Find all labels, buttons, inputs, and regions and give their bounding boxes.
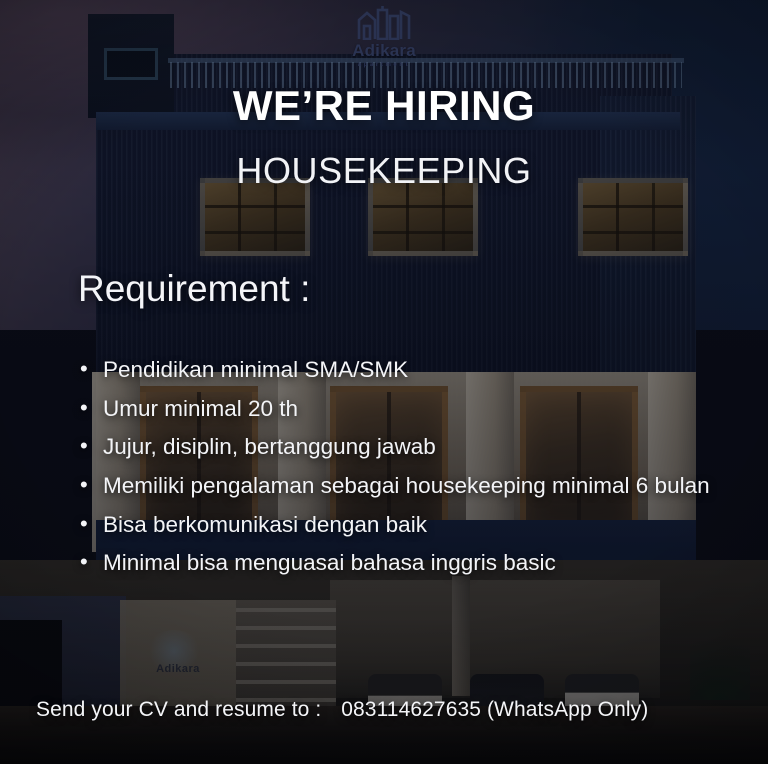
brand-logo: Adikara apartment	[0, 6, 768, 68]
requirement-item: Pendidikan minimal SMA/SMK	[78, 355, 728, 385]
contact-footer: Send your CV and resume to : 08311462763…	[36, 698, 648, 722]
brand-name: Adikara	[352, 41, 416, 61]
requirements-list: Pendidikan minimal SMA/SMK Umur minimal …	[78, 355, 728, 587]
contact-phone: 083114627635 (WhatsApp Only)	[341, 698, 648, 721]
poster-content: Adikara apartment WE’RE HIRING HOUSEKEEP…	[0, 0, 768, 764]
requirement-item: Jujur, disiplin, bertanggung jawab	[78, 432, 728, 462]
requirement-item: Umur minimal 20 th	[78, 394, 728, 424]
requirement-item: Minimal bisa menguasai bahasa inggris ba…	[78, 548, 728, 578]
headline: WE’RE HIRING	[0, 82, 768, 130]
requirement-item: Bisa berkomunikasi dengan baik	[78, 510, 728, 540]
job-role: HOUSEKEEPING	[0, 150, 768, 192]
requirement-item: Memiliki pengalaman sebagai housekeeping…	[78, 471, 728, 501]
contact-label: Send your CV and resume to :	[36, 698, 321, 721]
job-poster: Adikara Adikara apartment	[0, 0, 768, 764]
brand-subtitle: apartment	[358, 62, 410, 68]
requirements-title: Requirement :	[78, 268, 310, 310]
building-skyline-icon	[356, 6, 412, 40]
